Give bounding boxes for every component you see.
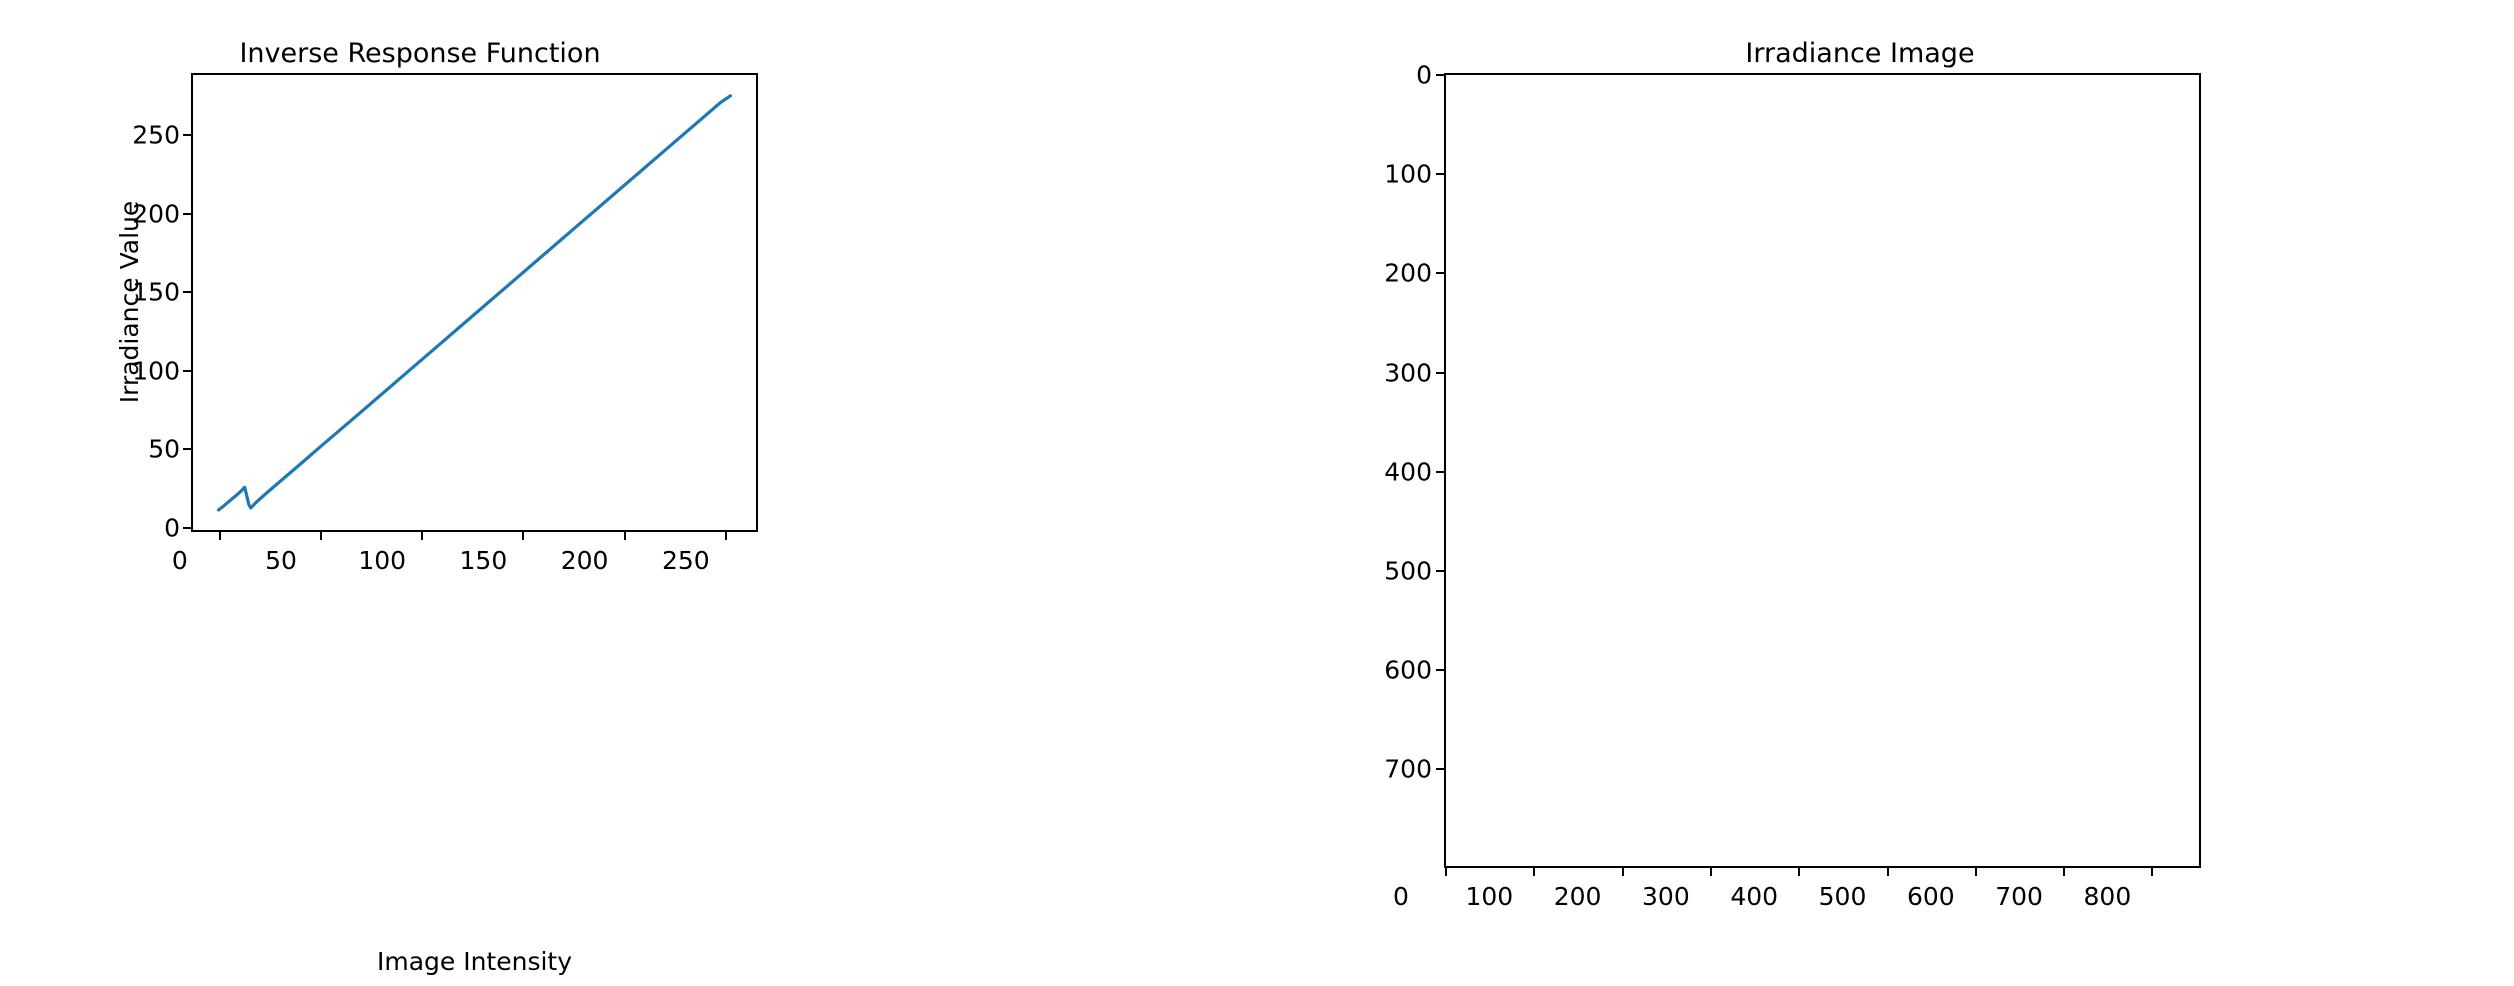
- right-xtick-mark-800: [2151, 868, 2153, 876]
- right-xtick-label-600: 600: [1886, 884, 1976, 909]
- right-xtick-mark-100: [1533, 868, 1535, 876]
- right-xtick-mark-500: [1887, 868, 1889, 876]
- left-xtick-mark-0: [219, 532, 221, 540]
- right-ytick-label-200: 200: [1340, 261, 1432, 286]
- left-xtick-label-50: 50: [241, 548, 321, 573]
- left-xtick-label-250: 250: [646, 548, 726, 573]
- right-xtick-label-700: 700: [1974, 884, 2064, 909]
- right-xtick-label-500: 500: [1798, 884, 1888, 909]
- right-xtick-label-800: 800: [2062, 884, 2152, 909]
- left-xtick-label-150: 150: [443, 548, 523, 573]
- left-ytick-mark-100: [183, 370, 191, 372]
- right-plot-title: Irradiance Image: [1360, 38, 2360, 70]
- left-ytick-label-0: 0: [10, 515, 180, 540]
- left-ytick-label-250: 250: [10, 123, 180, 148]
- right-xtick-mark-600: [1975, 868, 1977, 876]
- left-ytick-label-100: 100: [10, 358, 180, 383]
- left-plot-title: Inverse Response Function: [60, 38, 780, 70]
- right-ytick-mark-100: [1436, 173, 1444, 175]
- right-xtick-mark-700: [2063, 868, 2065, 876]
- left-xtick-label-100: 100: [342, 548, 422, 573]
- left-y-axis-label: Irradiance Value: [116, 162, 144, 442]
- right-xtick-label-200: 200: [1533, 884, 1623, 909]
- right-ytick-mark-0: [1436, 74, 1444, 76]
- left-ytick-label-150: 150: [10, 280, 180, 305]
- right-xtick-mark-400: [1798, 868, 1800, 876]
- matplotlib-figure: Inverse Response Function 250 200 150 10…: [0, 0, 2514, 986]
- right-ytick-label-300: 300: [1340, 360, 1432, 385]
- left-xtick-mark-50: [320, 532, 322, 540]
- right-ytick-label-700: 700: [1340, 757, 1432, 782]
- right-ytick-label-500: 500: [1340, 559, 1432, 584]
- right-ytick-mark-500: [1436, 570, 1444, 572]
- right-ytick-label-0: 0: [1340, 63, 1432, 88]
- right-ytick-label-100: 100: [1340, 162, 1432, 187]
- left-ytick-mark-200: [183, 213, 191, 215]
- left-ytick-mark-50: [183, 448, 191, 450]
- left-ytick-mark-250: [183, 134, 191, 136]
- left-xtick-mark-200: [624, 532, 626, 540]
- left-ytick-mark-150: [183, 291, 191, 293]
- left-ytick-label-50: 50: [10, 437, 180, 462]
- left-xtick-mark-100: [421, 532, 423, 540]
- right-xtick-mark-300: [1710, 868, 1712, 876]
- left-xtick-mark-150: [522, 532, 524, 540]
- right-ytick-mark-700: [1436, 768, 1444, 770]
- irradiance-image-panel: Irradiance Image: [1340, 0, 2514, 986]
- left-xtick-mark-250: [725, 532, 727, 540]
- right-plot-frame: [1444, 73, 2201, 868]
- inverse-response-function-panel: Inverse Response Function 250 200 150 10…: [0, 0, 840, 986]
- right-ytick-mark-300: [1436, 372, 1444, 374]
- left-x-axis-label: Image Intensity: [191, 948, 758, 976]
- inverse-response-curve: [193, 75, 756, 530]
- right-ytick-mark-200: [1436, 272, 1444, 274]
- right-xtick-mark-0: [1445, 868, 1447, 876]
- right-xtick-label-400: 400: [1709, 884, 1799, 909]
- right-ytick-mark-600: [1436, 669, 1444, 671]
- right-ytick-mark-400: [1436, 471, 1444, 473]
- left-xtick-label-200: 200: [545, 548, 625, 573]
- right-xtick-mark-200: [1622, 868, 1624, 876]
- right-ytick-label-600: 600: [1340, 658, 1432, 683]
- left-ytick-mark-0: [183, 527, 191, 529]
- left-xtick-label-0: 0: [140, 548, 220, 573]
- right-xtick-label-0: 0: [1356, 884, 1446, 909]
- left-plot-area: [193, 75, 756, 530]
- left-ytick-label-200: 200: [10, 201, 180, 226]
- right-xtick-label-300: 300: [1621, 884, 1711, 909]
- right-xtick-label-100: 100: [1444, 884, 1534, 909]
- right-ytick-label-400: 400: [1340, 459, 1432, 484]
